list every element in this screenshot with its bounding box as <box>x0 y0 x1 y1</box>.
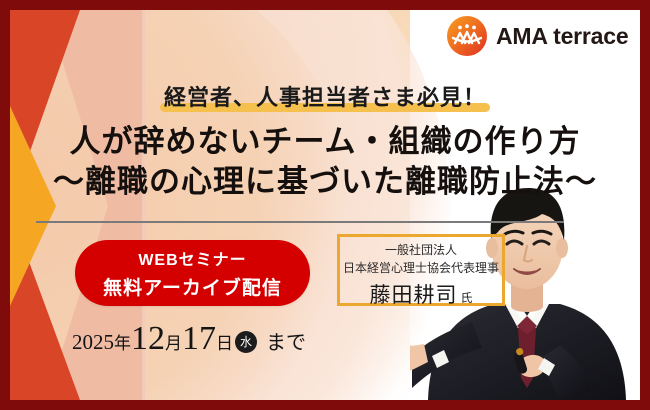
speaker-name-row: 藤田耕司 氏 <box>340 279 502 309</box>
ama-terrace-logo-icon <box>447 16 487 56</box>
speaker-info-box: 一般社団法人 日本経営心理士協会代表理事 藤田耕司 氏 <box>337 234 505 306</box>
eyebrow-container: 経営者、人事担当者さま必見！ <box>10 80 640 112</box>
webinar-cta-badge[interactable]: WEBセミナー 無料アーカイブ配信 <box>75 240 310 306</box>
speaker-org-line-1: 一般社団法人 <box>340 241 502 259</box>
page-title: 人が辞めないチーム・組織の作り方 〜離職の心理に基づいた離職防止法〜 <box>10 122 640 201</box>
brand-name: AMA terrace <box>496 23 628 50</box>
speaker-org-line-2: 日本経営心理士協会代表理事 <box>340 259 502 277</box>
webinar-banner: AMA terrace 経営者、人事担当者さま必見！ 人が辞めないチーム・組織の… <box>0 0 650 410</box>
section-divider <box>36 221 564 223</box>
title-line-2: 〜離職の心理に基づいた離職防止法〜 <box>10 162 640 202</box>
deadline-day-unit: 日 <box>216 329 233 354</box>
deadline-day: 17 <box>182 320 216 358</box>
deadline-month-unit: 月 <box>165 329 182 354</box>
speaker-name: 藤田耕司 <box>369 279 457 309</box>
brand-logo[interactable]: AMA terrace <box>447 16 628 56</box>
deadline-weekday-badge: 水 <box>235 331 257 353</box>
eyebrow-text: 経営者、人事担当者さま必見！ <box>158 80 492 112</box>
title-line-1: 人が辞めないチーム・組織の作り方 <box>10 122 640 162</box>
speaker-name-suffix: 氏 <box>460 289 472 306</box>
banner-canvas: AMA terrace 経営者、人事担当者さま必見！ 人が辞めないチーム・組織の… <box>10 10 640 400</box>
cta-line-2: 無料アーカイブ配信 <box>103 273 282 300</box>
deadline-month: 12 <box>131 320 165 358</box>
cta-line-1: WEBセミナー <box>138 246 246 270</box>
deadline-year: 2025 <box>72 330 114 355</box>
deadline-year-unit: 年 <box>114 329 131 354</box>
deadline-date: 2025 年 12 月 17 日 水 まで <box>72 320 306 358</box>
deadline-until: まで <box>266 326 306 355</box>
